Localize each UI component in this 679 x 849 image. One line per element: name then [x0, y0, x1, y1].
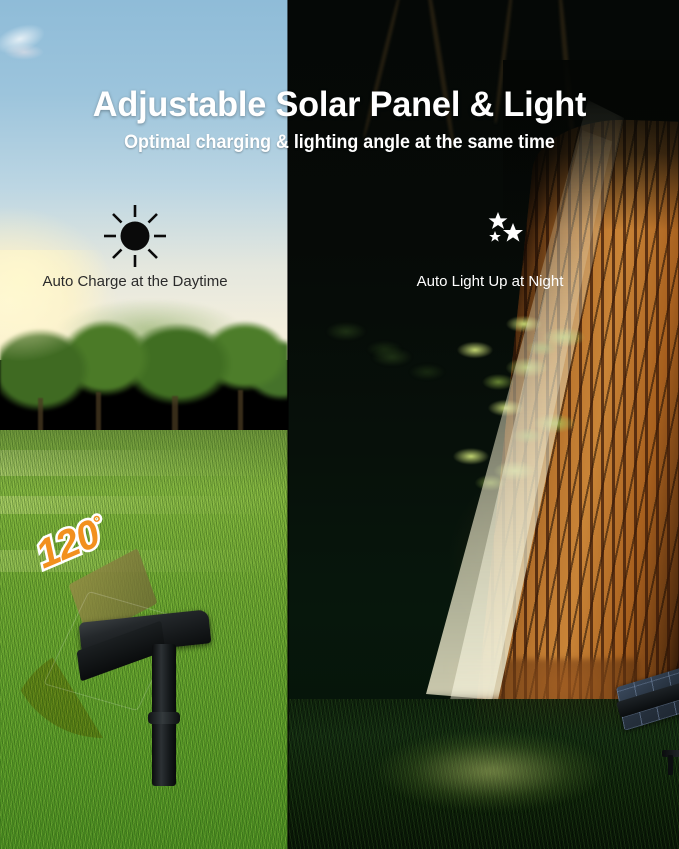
night-feature-block: Auto Light Up at Night: [400, 200, 580, 292]
sun-icon: [102, 203, 168, 269]
product-feature-poster: Adjustable Solar Panel & Light Optimal c…: [0, 0, 679, 849]
cloud-wisp-secondary-icon: [4, 44, 44, 60]
sun-icon-wrap: [35, 200, 235, 272]
night-feature-caption: Auto Light Up at Night: [400, 272, 580, 292]
night-scene-panel: [288, 0, 679, 849]
night-lawn-lit-patch: [348, 705, 608, 815]
ground-stake: [668, 755, 673, 775]
page-subtitle: Optimal charging & lighting angle at the…: [20, 130, 658, 156]
solar-lamp-day: [72, 616, 222, 786]
lamp-collar: [148, 712, 180, 724]
lawn-shadow-band: [0, 430, 288, 490]
day-scene-panel: [0, 0, 288, 849]
moon-icon-wrap: [400, 200, 580, 272]
day-feature-caption: Auto Charge at the Daytime: [35, 272, 235, 292]
page-title: Adjustable Solar Panel & Light: [7, 84, 672, 126]
moon-stars-icon: [451, 203, 529, 269]
day-feature-block: Auto Charge at the Daytime: [35, 200, 235, 292]
scene-divider: [287, 0, 289, 849]
solar-lamp-night: [618, 658, 679, 768]
